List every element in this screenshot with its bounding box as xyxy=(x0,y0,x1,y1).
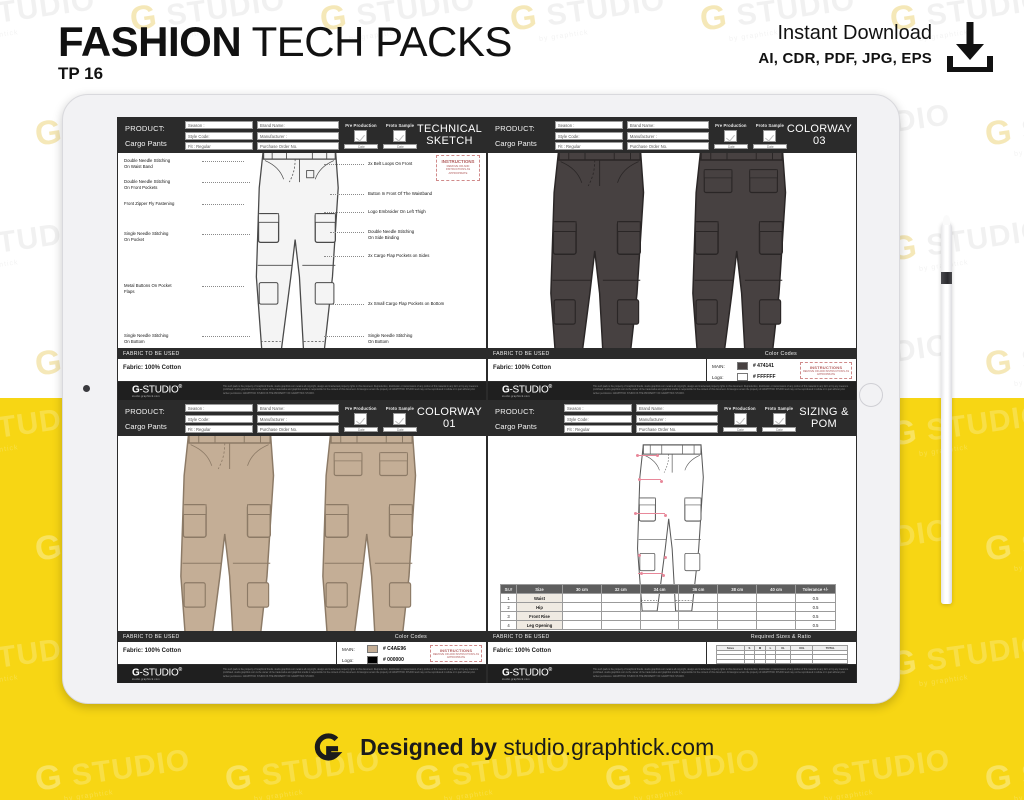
annotation-right-0: 2x Belt Loops On Front xyxy=(368,161,484,167)
size-cell-7[interactable] xyxy=(757,594,796,603)
size-cell-7[interactable] xyxy=(757,612,796,621)
product-label: PRODUCT: xyxy=(495,124,553,133)
field-right-0[interactable]: Brand Name: xyxy=(257,121,339,129)
measure-line-hip xyxy=(638,479,661,480)
fabric-value: Fabric: 100% Cotton xyxy=(493,365,551,371)
field-right-2[interactable]: Purchase Order No. xyxy=(627,142,709,150)
panel-title-line: SIZING & POM xyxy=(796,407,852,430)
fabric-area-colorway-01: Fabric: 100% Cotton MAIN: # C4AE96 Logo:… xyxy=(118,642,486,665)
color-code-logo: Logo: # FFFFFF xyxy=(712,373,776,381)
legal-text: This tech pack is the property of Grapht… xyxy=(593,669,856,678)
form-column-left: Season :Style Code:Fit : Regular xyxy=(564,404,632,433)
size-cell-6[interactable] xyxy=(718,621,757,630)
product-block: PRODUCT: Cargo Pants xyxy=(488,124,553,148)
sketch-instructions-stamp: INSTRUCTIONS REMOVE OR ADD INSTRUCTIONS … xyxy=(436,155,480,181)
size-cell-4[interactable] xyxy=(640,612,679,621)
form-column-right: Brand Name:Manufacturer :Purchase Order … xyxy=(257,121,339,150)
check-preproduction: Pre Production Date xyxy=(344,123,378,149)
approval-checks: Pre Production Date Proto Sample Date xyxy=(723,406,796,432)
sizing-table: Sr.#Size30 cm32 cm34 cm36 cm38 cm40 cmTo… xyxy=(500,584,836,630)
check-protosample-date[interactable]: Date xyxy=(383,427,417,432)
check-preproduction-box[interactable] xyxy=(734,413,747,425)
check-protosample: Proto Sample Date xyxy=(383,123,417,149)
color-logo-swatch xyxy=(367,656,378,664)
fabric-bar-colorway-03: FABRIC TO BE USED Color Codes xyxy=(488,348,856,359)
stylus-tip xyxy=(943,215,950,225)
panel-header-colorway-03: PRODUCT: Cargo Pants Season :Style Code:… xyxy=(488,118,856,153)
measure-line-rise xyxy=(634,513,665,514)
annotation-left-2: Front Zipper Fly Fastening xyxy=(124,201,200,207)
field-left-2[interactable]: Fit : Regular xyxy=(555,142,623,150)
check-protosample-label: Proto Sample xyxy=(753,123,787,128)
legal-text: This tech pack is the property of Grapht… xyxy=(593,386,856,395)
field-right-1[interactable]: Manufacturer : xyxy=(636,415,718,423)
panel-body: PRODUCT: Cargo Pants Season :Style Code:… xyxy=(487,400,857,683)
stylus-band xyxy=(941,272,952,284)
size-cell-4[interactable] xyxy=(640,603,679,612)
color-codes: MAIN: # 474141 Logo: # FFFFFF xyxy=(712,362,776,384)
panel-body: PRODUCT: Cargo Pants Season :Style Code:… xyxy=(487,117,857,400)
field-left-2[interactable]: Fit : Regular xyxy=(185,142,253,150)
product-value: Cargo Pants xyxy=(125,422,183,431)
panel-title-sizing-pom: SIZING & POM xyxy=(796,407,856,430)
size-cell-0: 4 xyxy=(501,621,517,630)
size-cell-1: Front Rise xyxy=(517,612,563,621)
fabric-area-sizing-pom: Fabric: 100% Cotton SizesSMLXLXXLTOTAL xyxy=(488,642,856,665)
approval-checks: Pre Production Date Proto Sample Date xyxy=(344,123,417,149)
fabric-bar-label: FABRIC TO BE USED xyxy=(118,351,486,357)
file-formats-label: AI, CDR, PDF, JPG, EPS xyxy=(758,50,932,67)
annotation-left-5: Single Needle StitchingOn Bottom xyxy=(124,333,200,344)
form-column-right: Brand Name:Manufacturer :Purchase Order … xyxy=(627,121,709,150)
leader-line-left-3 xyxy=(202,234,250,235)
ratio-cell[interactable] xyxy=(791,659,813,663)
form-fields: Season :Style Code:Fit : Regular Brand N… xyxy=(562,404,718,433)
field-right-1[interactable]: Manufacturer : xyxy=(257,415,339,423)
techpack-panel-colorway-03: PRODUCT: Cargo Pants Season :Style Code:… xyxy=(487,117,857,400)
fabric-bar-right-label: Color Codes xyxy=(706,351,856,357)
fabric-bar-label: FABRIC TO BE USED xyxy=(488,351,706,357)
size-col-8: Tolerance +/- xyxy=(796,585,836,594)
panel-header-colorway-01: PRODUCT: Cargo Pants Season :Style Code:… xyxy=(118,401,486,436)
color-logo-label: Logo: xyxy=(342,658,362,663)
leader-line-left-4 xyxy=(202,286,244,287)
size-cell-2[interactable] xyxy=(563,612,602,621)
check-preproduction-box[interactable] xyxy=(354,413,367,425)
panel-canvas-colorway-01 xyxy=(118,436,486,631)
panel-footer-colorway-01: G-STUDIO® studio.graphtick.com This tech… xyxy=(118,665,486,683)
color-main-swatch xyxy=(737,362,748,370)
size-col-0: Sr.# xyxy=(501,585,517,594)
leader-line-left-5 xyxy=(202,336,250,337)
fabric-value: Fabric: 100% Cotton xyxy=(123,648,181,654)
size-cell-8: 0.5 xyxy=(796,621,836,630)
panel-body: PRODUCT: Cargo Pants Season :Style Code:… xyxy=(117,400,487,683)
page-header: FASHION TECH PACKS TP 16 Instant Downloa… xyxy=(0,0,1024,105)
size-cell-8: 0.5 xyxy=(796,594,836,603)
size-cell-4[interactable] xyxy=(640,621,679,630)
annotation-right-4: 2x Cargo Flap Pockets on Sides xyxy=(368,253,484,259)
panel-body: PRODUCT: Cargo Pants Season :Style Code:… xyxy=(117,117,487,400)
annotation-right-2: Logo Embroider On Left Thigh xyxy=(368,209,484,215)
form-column-right: Brand Name:Manufacturer :Purchase Order … xyxy=(257,404,339,433)
panel-title-line: TECHNICAL xyxy=(417,124,482,136)
footer-row: Designed by studio.graphtick.com xyxy=(0,730,1024,764)
ratio-cell[interactable] xyxy=(775,659,791,663)
form-column-left: Season :Style Code:Fit : Regular xyxy=(185,121,253,150)
color-code-main: MAIN: # C4AE96 xyxy=(342,645,406,653)
check-preproduction-box[interactable] xyxy=(724,130,737,142)
size-cell-3[interactable] xyxy=(601,612,640,621)
panel-title-line: COLORWAY xyxy=(787,124,852,136)
product-block: PRODUCT: Cargo Pants xyxy=(118,407,183,431)
color-logo-hex: # FFFFFF xyxy=(753,374,776,380)
size-cell-1: Leg Opening xyxy=(517,621,563,630)
panel-title-line: COLORWAY xyxy=(417,407,482,419)
annotation-left-0: Double Needle StitchingOn Waist Band xyxy=(124,158,200,169)
panel-canvas-colorway-03 xyxy=(488,153,856,348)
check-protosample-date[interactable]: Date xyxy=(753,144,787,149)
size-cell-0: 3 xyxy=(501,612,517,621)
color-code-main: MAIN: # 474141 xyxy=(712,362,776,370)
instant-download-label: Instant Download xyxy=(758,22,932,45)
color-codes: MAIN: # C4AE96 Logo: # 000000 xyxy=(342,645,406,667)
color-logo-label: Logo: xyxy=(712,375,732,380)
product-block: PRODUCT: Cargo Pants xyxy=(118,124,183,148)
panel-footer-sizing-pom: G-STUDIO® studio.graphtick.com This tech… xyxy=(488,665,856,683)
gstudio-tagline: studio.graphtick.com xyxy=(502,395,593,398)
check-protosample-date[interactable]: Date xyxy=(383,144,417,149)
color-logo-swatch xyxy=(737,373,748,381)
check-protosample-label: Proto Sample xyxy=(383,123,417,128)
size-cell-1: Hip xyxy=(517,603,563,612)
annotation-left-4: Metal Buttons On PocketFlaps xyxy=(124,283,200,294)
field-left-0[interactable]: Season : xyxy=(185,404,253,412)
gstudio-tagline: studio.graphtick.com xyxy=(132,678,223,681)
gstudio-tagline: studio.graphtick.com xyxy=(502,678,593,681)
g-studio-logo-icon xyxy=(310,730,344,764)
leader-line-right-2 xyxy=(324,212,364,213)
size-cell-6[interactable] xyxy=(718,612,757,621)
size-col-4: 34 cm xyxy=(640,585,679,594)
fabric-area-colorway-03: Fabric: 100% Cotton MAIN: # 474141 Logo:… xyxy=(488,359,856,382)
approval-checks: Pre Production Date Proto Sample Date xyxy=(714,123,787,149)
approval-checks: Pre Production Date Proto Sample Date xyxy=(344,406,417,432)
field-left-2[interactable]: Fit : Regular xyxy=(185,425,253,433)
leader-line-right-5 xyxy=(330,304,364,305)
color-main-swatch xyxy=(367,645,378,653)
fabric-bar-label: FABRIC TO BE USED xyxy=(118,634,336,640)
legal-text: This tech pack is the property of Grapht… xyxy=(223,669,486,678)
page-title: FASHION TECH PACKS xyxy=(58,18,512,66)
ratio-cell[interactable] xyxy=(766,659,775,663)
fabric-bar-colorway-01: FABRIC TO BE USED Color Codes xyxy=(118,631,486,642)
gstudio-name: G-STUDIO® xyxy=(502,384,593,395)
check-preproduction-label: Pre Production xyxy=(344,123,378,128)
size-col-3: 32 cm xyxy=(601,585,640,594)
page-subtitle: TP 16 xyxy=(58,64,103,84)
required-sizes-table: SizesSMLXLXXLTOTAL xyxy=(716,645,848,664)
size-cell-5[interactable] xyxy=(679,612,718,621)
legal-text: This tech pack is the property of Grapht… xyxy=(223,386,486,395)
annotation-left-1: Double Needle StitchingOn Front Pockets xyxy=(124,179,200,190)
form-column-left: Season :Style Code:Fit : Regular xyxy=(185,404,253,433)
size-col-2: 30 cm xyxy=(563,585,602,594)
measure-line-leg xyxy=(638,573,663,574)
form-fields: Season :Style Code:Fit : Regular Brand N… xyxy=(183,121,339,150)
size-cell-2[interactable] xyxy=(563,603,602,612)
color-main-hex: # C4AE96 xyxy=(383,646,406,652)
product-value: Cargo Pants xyxy=(495,422,562,431)
check-preproduction-date[interactable]: Date xyxy=(714,144,748,149)
footer-credit: Designed by studio.graphtick.com xyxy=(360,734,714,761)
size-cell-7[interactable] xyxy=(757,621,796,630)
instant-download-block: Instant Download AI, CDR, PDF, JPG, EPS xyxy=(758,22,932,67)
fabric-bar-right-label: Required Sizes & Ratio xyxy=(706,634,856,640)
page-footer: Designed by studio.graphtick.com xyxy=(0,718,1024,800)
size-cell-6[interactable] xyxy=(718,594,757,603)
gstudio-tagline: studio.graphtick.com xyxy=(132,395,223,398)
annotation-right-6: Single Needle StitchingOn Bottom xyxy=(368,333,484,344)
size-row: 2Hip0.5 xyxy=(501,603,836,612)
size-row: 3Front Rise0.5 xyxy=(501,612,836,621)
size-row: 1Waist0.5 xyxy=(501,594,836,603)
size-cell-8: 0.5 xyxy=(796,603,836,612)
form-fields: Season :Style Code:Fit : Regular Brand N… xyxy=(183,404,339,433)
colorway-front-view xyxy=(546,153,650,348)
leader-line-right-4 xyxy=(324,256,364,257)
check-preproduction: Pre Production Date xyxy=(723,406,757,432)
check-protosample-box[interactable] xyxy=(773,413,786,425)
size-cell-3[interactable] xyxy=(601,603,640,612)
techpack-panel-colorway-01: PRODUCT: Cargo Pants Season :Style Code:… xyxy=(117,400,487,683)
leader-line-left-0 xyxy=(202,161,244,162)
size-cell-5[interactable] xyxy=(679,594,718,603)
size-col-6: 38 cm xyxy=(718,585,757,594)
check-protosample: Proto Sample Date xyxy=(753,123,787,149)
panel-title-line: 03 xyxy=(787,136,852,148)
size-col-7: 40 cm xyxy=(757,585,796,594)
fabric-bar-technical-sketch: FABRIC TO BE USED xyxy=(118,348,486,359)
fabric-value: Fabric: 100% Cotton xyxy=(493,648,551,654)
check-preproduction: Pre Production Date xyxy=(714,123,748,149)
instructions-stamp-title: INSTRUCTIONS xyxy=(801,365,851,370)
field-right-0[interactable]: Brand Name: xyxy=(257,404,339,412)
size-cell-2[interactable] xyxy=(563,621,602,630)
size-cell-5[interactable] xyxy=(679,603,718,612)
annotation-right-5: 2x Small Cargo Flap Pockets on Bottom xyxy=(368,301,484,307)
stylus-pen xyxy=(941,222,952,604)
instructions-stamp-body: REMOVE OR ADD INSTRUCTIONS AS APPROPRIAT… xyxy=(801,370,851,376)
size-cell-1: Waist xyxy=(517,594,563,603)
measure-point-5 xyxy=(664,514,667,517)
product-value: Cargo Pants xyxy=(495,139,553,148)
field-right-1[interactable]: Manufacturer : xyxy=(627,132,709,140)
check-preproduction: Pre Production Date xyxy=(344,406,378,432)
ratio-row xyxy=(717,659,848,663)
color-code-logo: Logo: # 000000 xyxy=(342,656,406,664)
color-main-label: MAIN: xyxy=(712,364,732,369)
footer-credit-url[interactable]: studio.graphtick.com xyxy=(503,734,714,760)
check-protosample-date[interactable]: Date xyxy=(762,427,796,432)
field-right-2[interactable]: Purchase Order No. xyxy=(636,425,718,433)
size-col-5: 36 cm xyxy=(679,585,718,594)
footer-credit-bold: Designed by xyxy=(360,734,503,760)
panel-title-line: SKETCH xyxy=(417,136,482,148)
color-main-hex: # 474141 xyxy=(753,363,774,369)
form-fields: Season :Style Code:Fit : Regular Brand N… xyxy=(553,121,709,150)
check-preproduction-date[interactable]: Date xyxy=(344,427,378,432)
ratio-cell[interactable] xyxy=(717,659,745,663)
size-cell-0: 1 xyxy=(501,594,517,603)
panel-footer-colorway-03: G-STUDIO® studio.graphtick.com This tech… xyxy=(488,382,856,400)
panel-title-colorway-03: COLORWAY03 xyxy=(787,124,856,147)
field-right-0[interactable]: Brand Name: xyxy=(627,121,709,129)
leader-line-right-3 xyxy=(330,232,364,233)
form-column-right: Brand Name:Manufacturer :Purchase Order … xyxy=(636,404,718,433)
color-codes-divider xyxy=(336,642,337,665)
leader-line-right-1 xyxy=(330,194,364,195)
ratio-divider xyxy=(706,642,707,665)
sketch-front-view xyxy=(252,153,344,348)
check-preproduction-label: Pre Production xyxy=(714,123,748,128)
field-right-2[interactable]: Purchase Order No. xyxy=(257,142,339,150)
size-col-1: Size xyxy=(517,585,563,594)
field-left-1[interactable]: Style Code: xyxy=(564,415,632,423)
check-protosample: Proto Sample Date xyxy=(383,406,417,432)
annotation-right-3: Double Needle StitchingOn Side Binding xyxy=(368,229,484,240)
annotation-right-1: Button In Front Of The Waistband xyxy=(368,191,484,197)
panel-title-line: 01 xyxy=(417,419,482,431)
leader-line-right-0 xyxy=(324,164,364,165)
product-label: PRODUCT: xyxy=(495,407,562,416)
techpack-panel-sizing-pom: PRODUCT: Cargo Pants Season :Style Code:… xyxy=(487,400,857,683)
field-left-0[interactable]: Season : xyxy=(564,404,632,412)
panel-title-technical-sketch: TECHNICALSKETCH xyxy=(417,124,486,147)
size-cell-0: 2 xyxy=(501,603,517,612)
field-left-1[interactable]: Style Code: xyxy=(555,132,623,140)
techpack-panel-technical-sketch: PRODUCT: Cargo Pants Season :Style Code:… xyxy=(117,117,487,400)
size-cell-3[interactable] xyxy=(601,594,640,603)
product-block: PRODUCT: Cargo Pants xyxy=(488,407,562,431)
leader-line-left-2 xyxy=(202,204,244,205)
field-left-0[interactable]: Season : xyxy=(185,121,253,129)
color-codes-divider xyxy=(706,359,707,382)
ratio-cell[interactable] xyxy=(813,659,848,663)
page-title-light: TECH PACKS xyxy=(241,18,512,65)
product-label: PRODUCT: xyxy=(125,407,183,416)
field-left-1[interactable]: Style Code: xyxy=(185,132,253,140)
annotation-left-3: Single Needle StitchingOn Pocket xyxy=(124,231,200,242)
ratio-cell[interactable] xyxy=(754,659,765,663)
gstudio-name: G-STUDIO® xyxy=(132,667,223,678)
gstudio-logo: G-STUDIO® studio.graphtick.com xyxy=(118,384,223,399)
field-left-2[interactable]: Fit : Regular xyxy=(564,425,632,433)
size-cell-6[interactable] xyxy=(718,603,757,612)
gstudio-logo: G-STUDIO® studio.graphtick.com xyxy=(488,667,593,682)
leader-line-right-6 xyxy=(324,336,364,337)
fabric-bar-label: FABRIC TO BE USED xyxy=(488,634,706,640)
measure-line-waist xyxy=(636,455,658,456)
measure-point-3 xyxy=(660,480,663,483)
check-protosample-box[interactable] xyxy=(763,130,776,142)
size-cell-3[interactable] xyxy=(601,621,640,630)
field-left-0[interactable]: Season : xyxy=(555,121,623,129)
panel-footer-technical-sketch: G-STUDIO® studio.graphtick.com This tech… xyxy=(118,382,486,400)
check-preproduction-label: Pre Production xyxy=(344,406,378,411)
gstudio-logo: G-STUDIO® studio.graphtick.com xyxy=(488,384,593,399)
product-label: PRODUCT: xyxy=(125,124,183,133)
panel-canvas-technical-sketch: INSTRUCTIONS REMOVE OR ADD INSTRUCTIONS … xyxy=(118,153,486,348)
field-left-1[interactable]: Style Code: xyxy=(185,415,253,423)
download-icon xyxy=(944,20,996,72)
tablet-home-button[interactable] xyxy=(859,383,883,407)
leader-line-left-1 xyxy=(202,182,250,183)
panel-header-sizing-pom: PRODUCT: Cargo Pants Season :Style Code:… xyxy=(488,401,856,436)
size-cell-5[interactable] xyxy=(679,621,718,630)
size-row: 4Leg Opening0.5 xyxy=(501,621,836,630)
check-protosample-box[interactable] xyxy=(393,413,406,425)
fabric-bar-sizing-pom: FABRIC TO BE USED Required Sizes & Ratio xyxy=(488,631,856,642)
check-preproduction-date[interactable]: Date xyxy=(723,427,757,432)
instructions-stamp-body: REMOVE OR ADD INSTRUCTIONS AS APPROPRIAT… xyxy=(431,653,481,659)
color-logo-hex: # 000000 xyxy=(383,657,404,663)
field-right-1[interactable]: Manufacturer : xyxy=(257,132,339,140)
check-protosample-label: Proto Sample xyxy=(383,406,417,411)
size-cell-8: 0.5 xyxy=(796,612,836,621)
fabric-area-technical-sketch: Fabric: 100% Cotton xyxy=(118,359,486,382)
instructions-stamp-title: INSTRUCTIONS xyxy=(431,648,481,653)
panel-title-colorway-01: COLORWAY01 xyxy=(417,407,486,430)
instructions-stamp: INSTRUCTIONS REMOVE OR ADD INSTRUCTIONS … xyxy=(800,362,852,379)
field-right-2[interactable]: Purchase Order No. xyxy=(257,425,339,433)
instructions-stamp: INSTRUCTIONS REMOVE OR ADD INSTRUCTIONS … xyxy=(430,645,482,662)
fabric-bar-right-label: Color Codes xyxy=(336,634,486,640)
check-preproduction-box[interactable] xyxy=(354,130,367,142)
product-value: Cargo Pants xyxy=(125,139,183,148)
check-preproduction-date[interactable]: Date xyxy=(344,144,378,149)
check-protosample-box[interactable] xyxy=(393,130,406,142)
colorway-back-view xyxy=(688,153,792,348)
tablet-screen: PRODUCT: Cargo Pants Season :Style Code:… xyxy=(117,117,857,683)
measure-point-7 xyxy=(664,556,667,559)
panel-canvas-sizing-pom: Sr.#Size30 cm32 cm34 cm36 cm38 cm40 cmTo… xyxy=(488,436,856,631)
measure-point-6 xyxy=(638,554,641,557)
ratio-cell[interactable] xyxy=(744,659,754,663)
check-protosample-label: Proto Sample xyxy=(762,406,796,411)
gstudio-name: G-STUDIO® xyxy=(502,667,593,678)
check-protosample: Proto Sample Date xyxy=(762,406,796,432)
page-title-bold: FASHION xyxy=(58,18,241,65)
tablet-device: PRODUCT: Cargo Pants Season :Style Code:… xyxy=(62,94,900,704)
panel-header-technical-sketch: PRODUCT: Cargo Pants Season :Style Code:… xyxy=(118,118,486,153)
gstudio-name: G-STUDIO® xyxy=(132,384,223,395)
size-cell-4[interactable] xyxy=(640,594,679,603)
color-main-label: MAIN: xyxy=(342,647,362,652)
fabric-value: Fabric: 100% Cotton xyxy=(123,365,181,371)
size-cell-2[interactable] xyxy=(563,594,602,603)
colorway-front-view xyxy=(176,436,280,631)
check-preproduction-label: Pre Production xyxy=(723,406,757,411)
measure-point-9 xyxy=(662,574,665,577)
gstudio-logo: G-STUDIO® studio.graphtick.com xyxy=(118,667,223,682)
size-cell-7[interactable] xyxy=(757,603,796,612)
tablet-camera xyxy=(83,385,90,392)
form-column-left: Season :Style Code:Fit : Regular xyxy=(555,121,623,150)
field-right-0[interactable]: Brand Name: xyxy=(636,404,718,412)
colorway-back-view xyxy=(318,436,422,631)
